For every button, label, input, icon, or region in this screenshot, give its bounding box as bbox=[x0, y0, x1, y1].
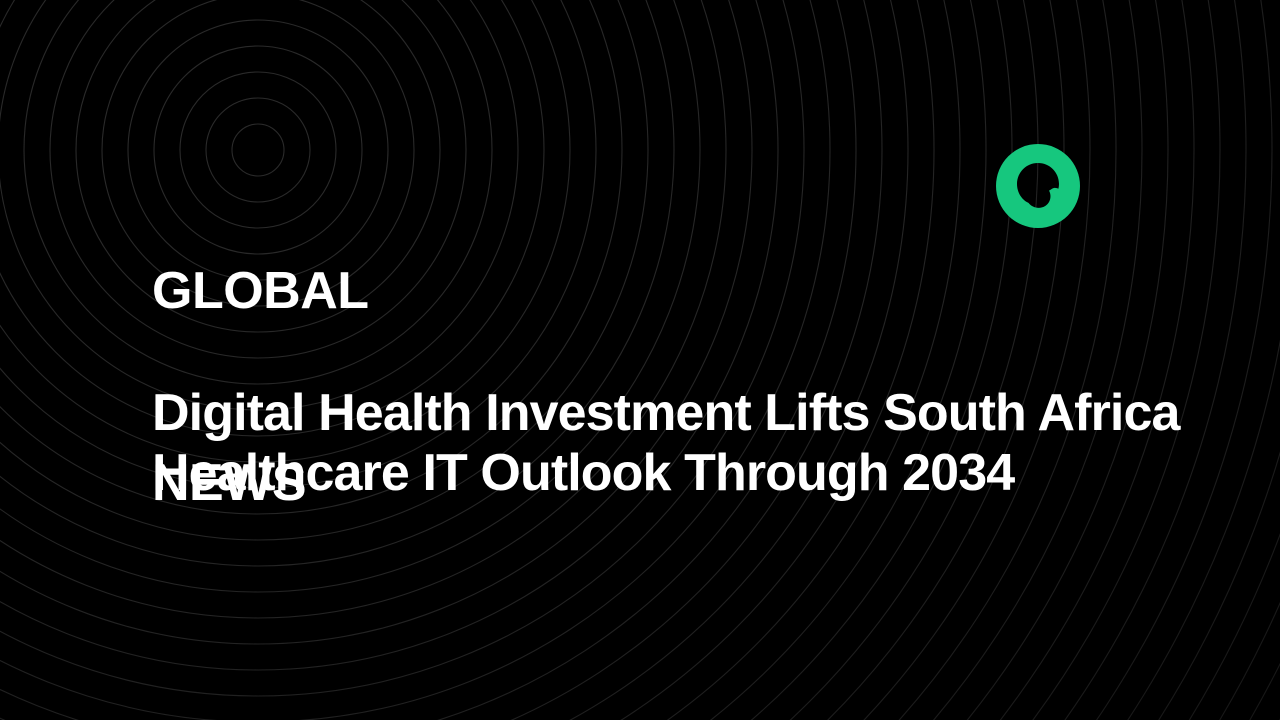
logo bbox=[996, 144, 1080, 228]
brand-line-1: GLOBAL bbox=[152, 259, 369, 323]
news-card: GLOBAL NEWS Digital Health Investment Li… bbox=[0, 0, 1280, 720]
headline-line-1: Digital Health Investment Lifts South Af… bbox=[152, 383, 1242, 443]
card-content: GLOBAL NEWS Digital Health Investment Li… bbox=[0, 0, 1280, 720]
headline-line-2: Healthcare IT Outlook Through 2034 bbox=[152, 443, 1242, 503]
green-ring-logo-icon bbox=[996, 144, 1080, 228]
headline: Digital Health Investment Lifts South Af… bbox=[152, 383, 1242, 503]
